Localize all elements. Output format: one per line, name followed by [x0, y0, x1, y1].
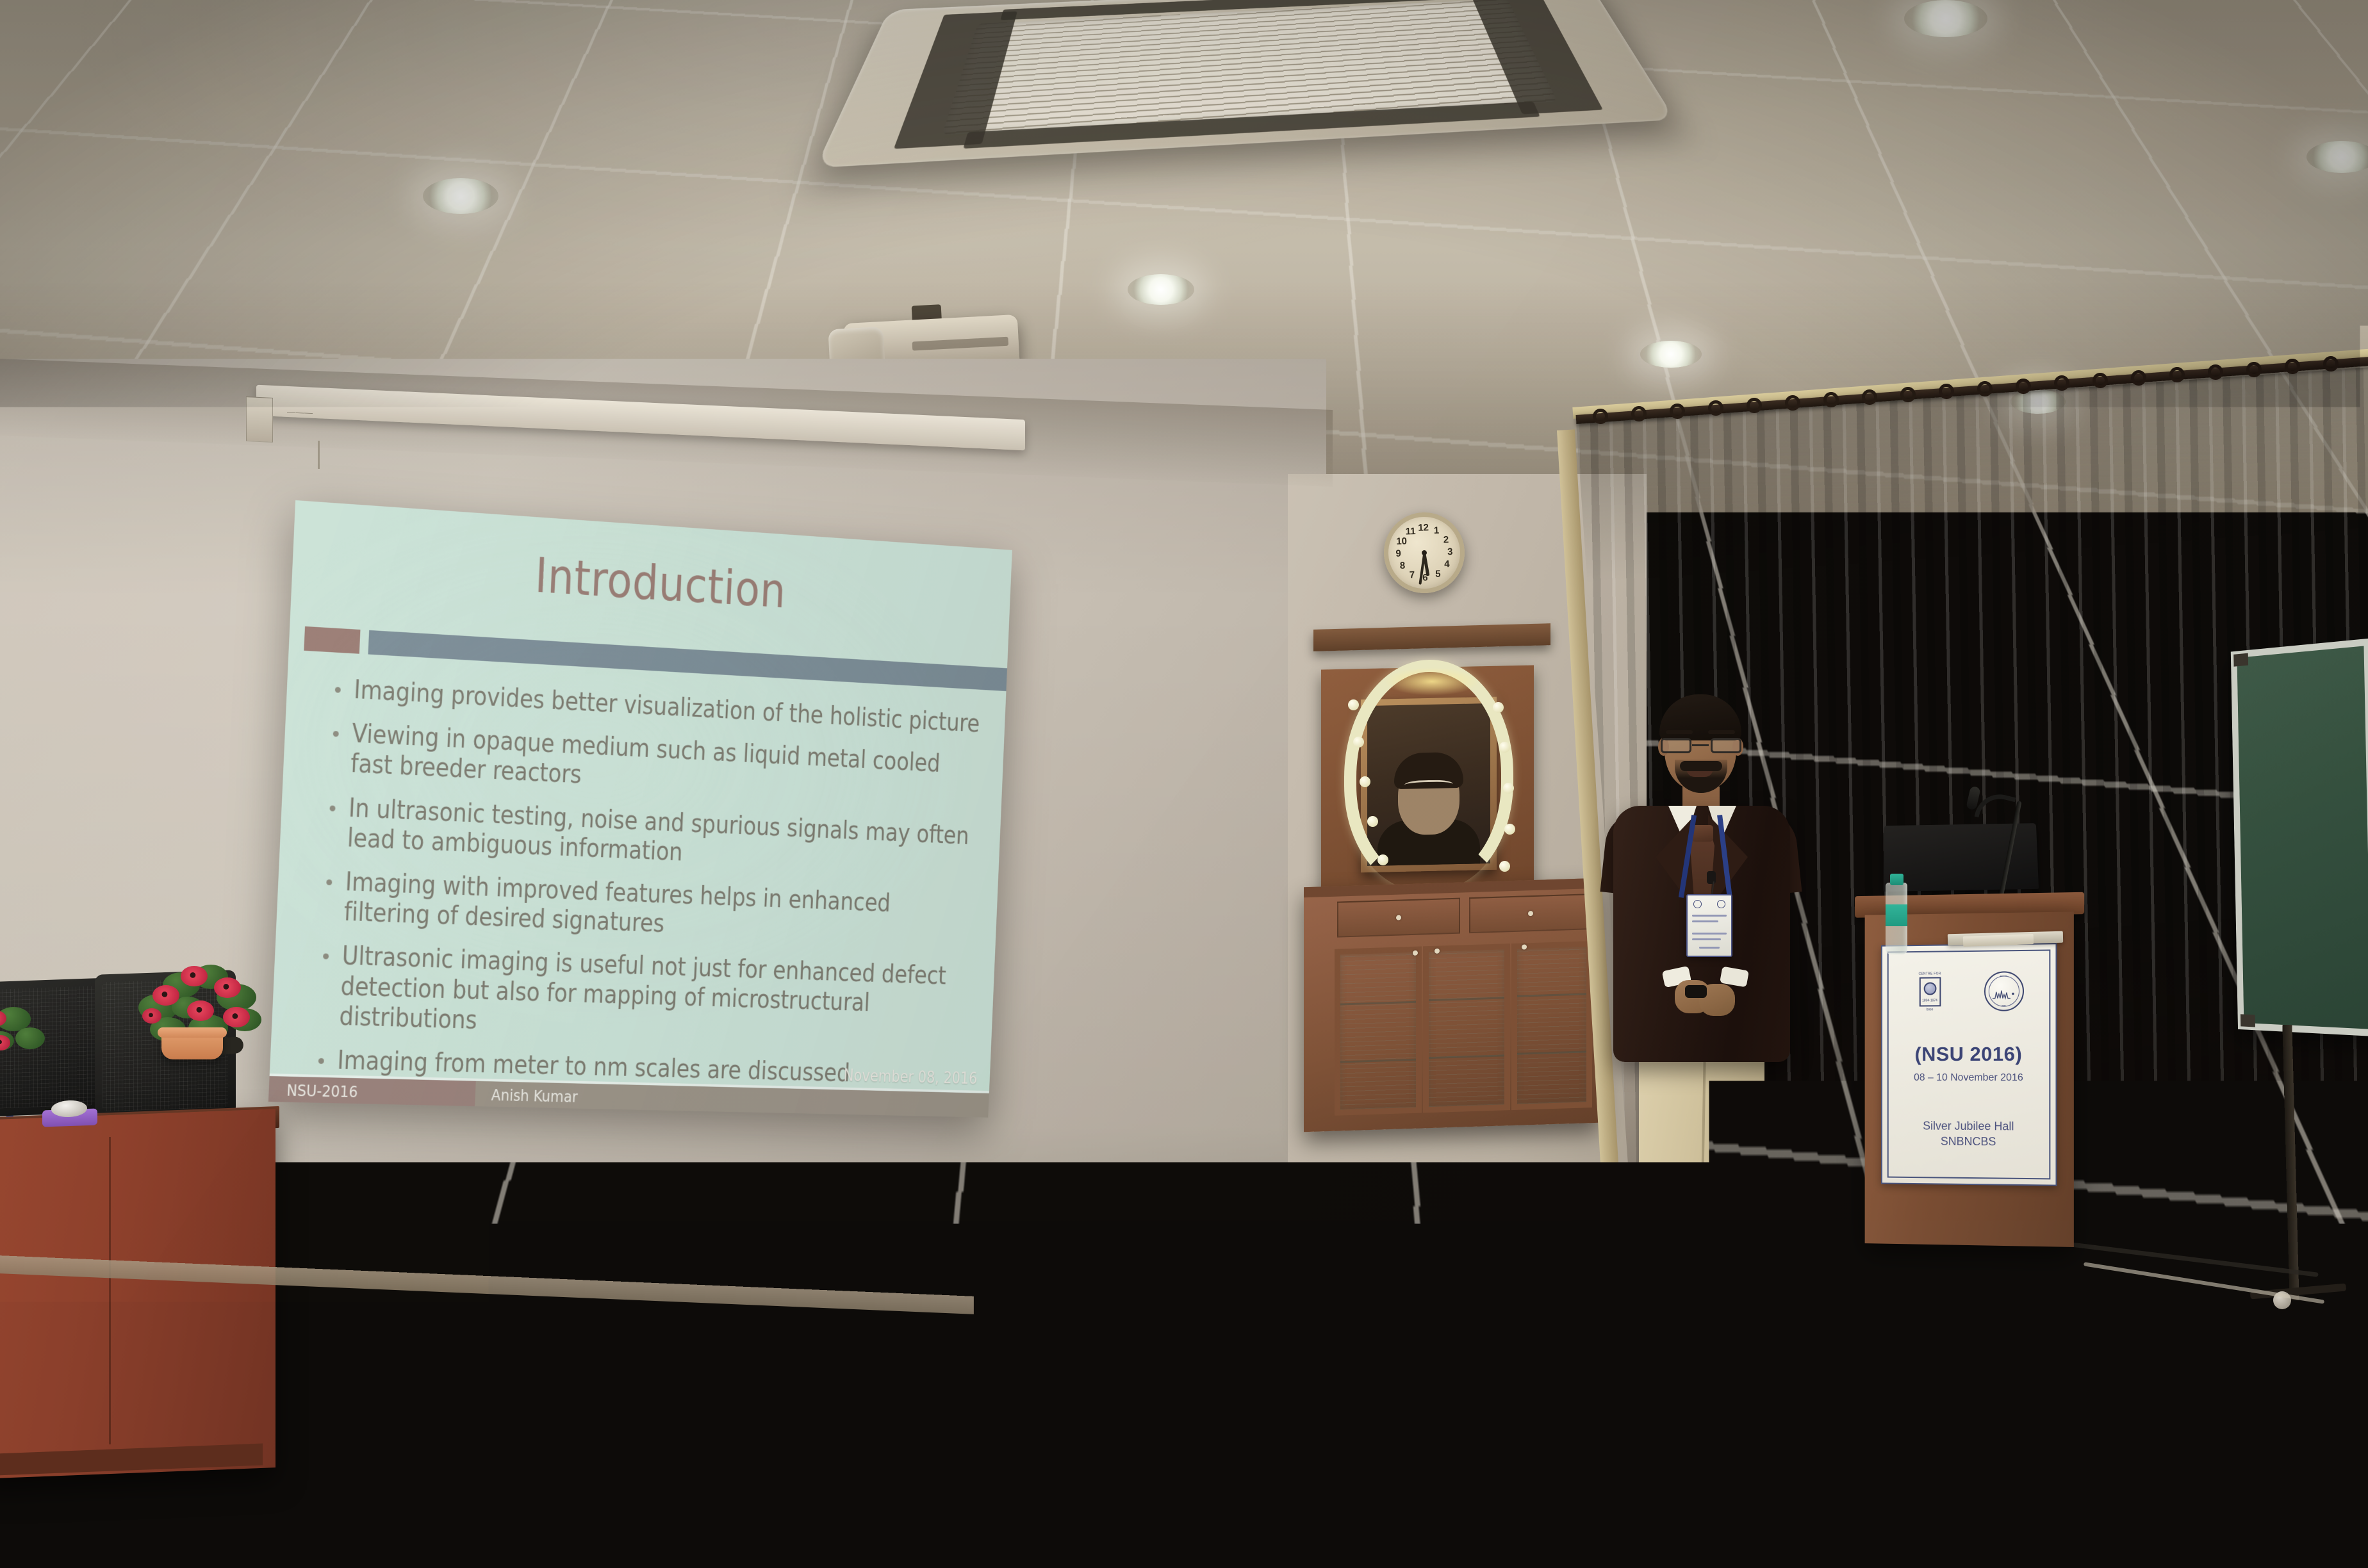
slide-title: Introduction [292, 531, 1011, 633]
snbncbs-logo-bottom-text: bose [1913, 1008, 1946, 1011]
badge-text-line [1692, 933, 1727, 935]
presenter-mustache [1680, 761, 1722, 771]
clock-numeral: 4 [1444, 559, 1450, 569]
clock-numeral: 7 [1410, 569, 1415, 580]
slide-conference-tag: NSU-2016 [268, 1076, 476, 1106]
slide-bullet: Imaging with improved features helps in … [318, 867, 973, 951]
recessed-downlight [423, 178, 498, 214]
eyeglass-bridge [1692, 744, 1709, 746]
garland-flower [1360, 776, 1370, 787]
slide-bullet-list: Imaging provides better visualization of… [311, 674, 980, 1104]
recessed-downlight [1904, 0, 1987, 37]
venue-hall: Silver Jubilee Hall [1895, 1118, 2043, 1134]
conference-name: (NSU 2016) [1895, 1043, 2043, 1066]
venue-institute: SNBNCBS [1895, 1134, 2043, 1150]
presenter [1589, 679, 1813, 1275]
board-corner-bracket [2233, 653, 2248, 667]
cabinet-shelf [1340, 1001, 1416, 1006]
clock-numeral: 10 [1396, 535, 1407, 547]
slide-date: November 08, 2016 [843, 1066, 978, 1088]
badge-logo-icon [1693, 900, 1702, 908]
screen-roller-end-cap [246, 396, 273, 443]
cabinet-shelf [1517, 1050, 1586, 1054]
clock-numeral: 12 [1418, 522, 1429, 534]
clock-numeral: 2 [1443, 534, 1449, 545]
garland-flower [1348, 699, 1359, 710]
presentation-clicker[interactable] [1685, 985, 1707, 998]
board-corner-bracket [2241, 1014, 2255, 1027]
garland-flower [1503, 783, 1514, 794]
sign-inner-border: CENTRE FOR 1894-1974 bose ••••••• [1887, 949, 2051, 1179]
cabinet-glass-door[interactable] [1335, 946, 1422, 1115]
wooden-display-cabinet[interactable] [1304, 878, 1600, 1132]
ultrasonics-society-logo-icon: ••••••• •••• [1984, 971, 2023, 1011]
eyeglass-lens [1661, 738, 1691, 753]
presenter-eyebrow [1708, 730, 1735, 734]
potted-plant-foliage [0, 974, 58, 1050]
gerbera-flower [187, 1000, 214, 1021]
badge-text-line [1692, 920, 1718, 922]
green-chalkboard[interactable] [2231, 639, 2368, 1037]
conference-hall-scene: ——— Introduction Imaging provides better… [0, 0, 2368, 1568]
water-bottle-cap[interactable] [1890, 874, 1903, 885]
snbncbs-logo-top-text: CENTRE FOR [1913, 972, 1946, 976]
gerbera-flower [214, 977, 241, 998]
cabinet-shelf [1429, 997, 1504, 1001]
conference-dates: 08 – 10 November 2016 [1895, 1072, 2043, 1084]
presenter-eyebrow [1666, 730, 1693, 734]
badge-text-line [1692, 915, 1727, 917]
eyeglasses-icon [1661, 738, 1741, 755]
usi-logo-waveform [1992, 989, 2015, 999]
cabinet-glass-door[interactable] [1423, 943, 1510, 1113]
portrait-lamp-glow [1384, 667, 1480, 696]
garland-flower [1367, 816, 1378, 827]
cabinet-shelf [1517, 993, 1586, 997]
presenter-shoe [1641, 1249, 1693, 1271]
cabinet-shelf [1340, 1059, 1416, 1063]
conference-badge [1686, 894, 1732, 957]
roller-brand-label: ——— [287, 407, 313, 418]
clock-numeral: 9 [1395, 548, 1401, 559]
clock-numeral: 5 [1435, 568, 1441, 579]
presentation-slide: Introduction Imaging provides better vis… [268, 500, 1012, 1118]
garland-flower [1377, 854, 1388, 865]
clock-numeral: 3 [1447, 546, 1453, 557]
clock-numeral: 8 [1399, 560, 1405, 571]
usi-logo-ring-text: ••••••• [1985, 974, 2022, 978]
cabinet-shelf [1429, 1054, 1504, 1059]
shoe-lace [1720, 1248, 1736, 1251]
recessed-downlight [1128, 274, 1194, 305]
shoe-lace [1656, 1248, 1672, 1251]
recessed-downlight [1640, 341, 1702, 368]
gerbera-flower [181, 966, 208, 986]
sign-logo-row: CENTRE FOR 1894-1974 bose ••••••• [1895, 967, 2043, 1017]
slide-bullet: Ultrasonic imaging is useful not just fo… [313, 940, 969, 1049]
screen-pull-cord [318, 441, 320, 469]
projection-screen: Introduction Imaging provides better vis… [268, 500, 1012, 1118]
garland-flower [1493, 702, 1504, 713]
slide-author: Anish Kumar [491, 1086, 578, 1106]
slide-conference-tag-label: NSU-2016 [286, 1081, 358, 1101]
badge-text-line [1692, 938, 1721, 940]
garland-flower [1504, 824, 1515, 835]
badge-logo-icon [1717, 900, 1725, 908]
lectern-conference-sign: CENTRE FOR 1894-1974 bose ••••••• [1881, 943, 2057, 1186]
clip-on-microphone [1707, 871, 1716, 884]
snbncbs-logo-years: 1894-1974 [1913, 999, 1946, 1002]
venue-name: Silver Jubilee Hall SNBNCBS [1895, 1118, 2043, 1150]
badge-text-line [1699, 947, 1720, 949]
clock-numeral: 1 [1434, 525, 1440, 536]
water-bottle-label [1886, 904, 1907, 926]
gerbera-flower [142, 1008, 161, 1024]
snbncbs-logo-globe [1923, 982, 1936, 995]
divider-accent-block [304, 626, 360, 654]
garland-flower [1499, 742, 1510, 753]
gerbera-flower [152, 985, 179, 1006]
flower-pot-rim [158, 1027, 227, 1038]
clock-numeral: 11 [1405, 526, 1415, 537]
snbncbs-logo-icon: CENTRE FOR 1894-1974 bose [1913, 972, 1946, 1011]
garland-flower [1499, 861, 1510, 872]
presenter-shoe [1706, 1249, 1757, 1271]
garland-flower [1353, 737, 1364, 747]
eyeglass-lens [1711, 738, 1741, 753]
plant-leaf [15, 1027, 45, 1049]
gerbera-flower [223, 1007, 250, 1027]
slide-bullet: In ultrasonic testing, noise and spuriou… [322, 792, 976, 880]
clock-center-pin [1422, 550, 1427, 555]
cabinet-glass-door[interactable] [1511, 941, 1592, 1110]
usi-logo-bottom-text: •••• [1985, 1004, 2022, 1007]
